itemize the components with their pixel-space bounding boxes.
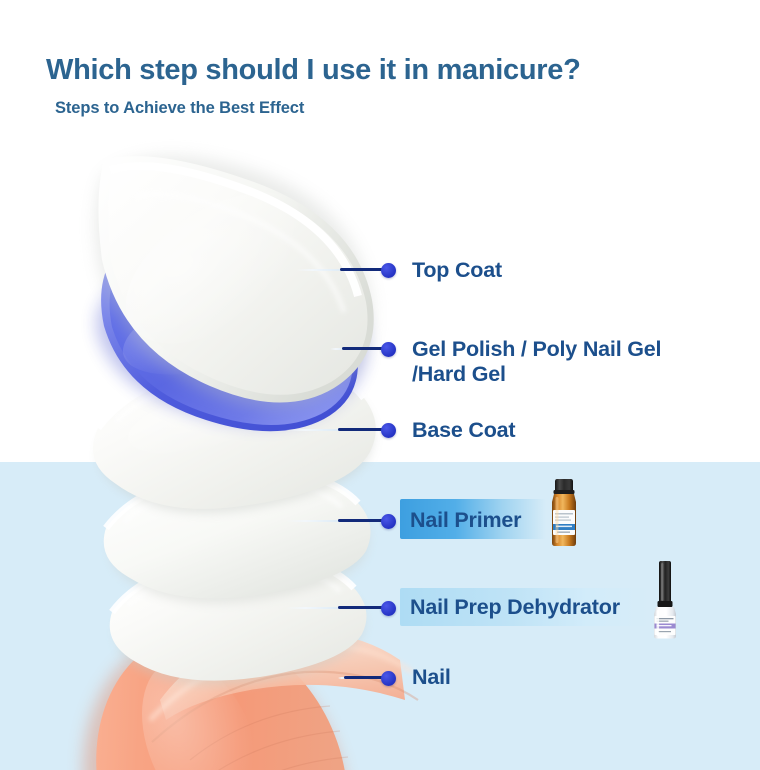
callout-label-gel-polish: Gel Polish / Poly Nail Gel /Hard Gel [412,337,661,388]
callout-label-primer: Nail Primer [410,508,521,533]
infographic-canvas: Which step should I use it in manicure? … [0,0,760,770]
callout-dot-gel-polish[interactable] [381,342,396,357]
callout-dot-base-coat[interactable] [381,423,396,438]
callout-dot-nail[interactable] [381,671,396,686]
callout-label-dehydrator: Nail Prep Dehydrator [410,595,620,620]
callout-label-base-coat: Base Coat [412,418,515,443]
leader-line-top-coat [296,268,388,272]
white-brush-bottle-icon [645,560,685,640]
callout-label-nail: Nail [412,665,451,690]
callout-dot-primer[interactable] [381,514,396,529]
leader-line-gel-polish [330,347,388,351]
callout-dot-top-coat[interactable] [381,263,396,278]
leader-line-primer [286,519,388,523]
leader-line-dehydrator [286,606,388,610]
amber-dropper-bottle-icon [543,477,585,549]
callout-dot-dehydrator[interactable] [381,601,396,616]
callout-label-top-coat: Top Coat [412,258,502,283]
leader-line-base-coat [286,428,388,432]
